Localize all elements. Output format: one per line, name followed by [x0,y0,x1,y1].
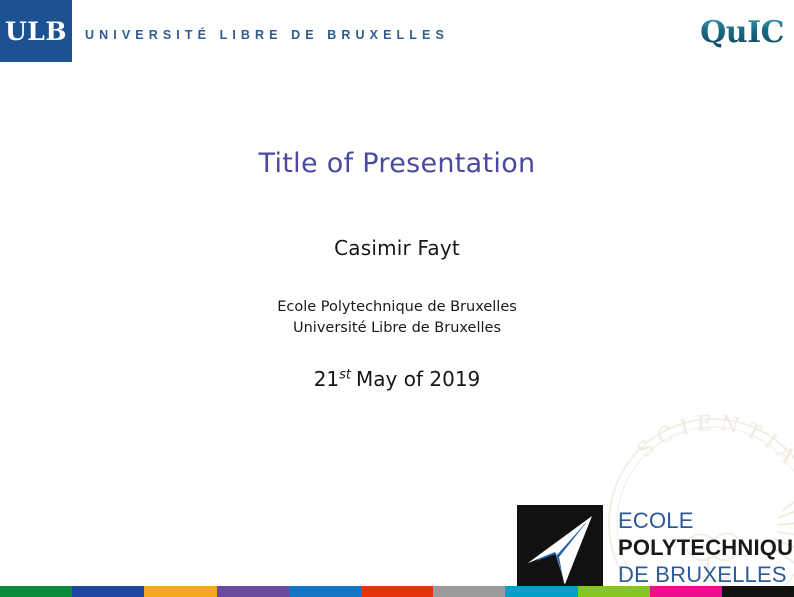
ulb-wordmark-text: UNIVERSITÉ LIBRE DE BRUXELLES [85,28,449,42]
institute-area: Ecole Polytechnique de Bruxelles Univers… [0,297,794,339]
color-strip-segment-blue [289,586,361,597]
color-strip-segment-gray [433,586,505,597]
color-strip-segment-magenta [650,586,722,597]
svg-text:SCIENTIA VINCERE: SCIENTIA VINCERE [588,398,794,519]
slide-header: ULB UNIVERSITÉ LIBRE DE BRUXELLES QuIC [0,0,794,64]
author-name: Casimir Fayt [334,236,460,260]
ulb-logo-letters: ULB [5,19,67,44]
color-strip-segment-light-green [578,586,650,597]
institute-line-2: Université Libre de Bruxelles [0,318,794,339]
date-ordinal-suffix: st [339,367,351,382]
page-title: Title of Presentation [0,148,794,179]
date-rest: May of 2019 [356,367,480,391]
presentation-date: 21stMay of 2019 [314,367,481,391]
quic-logo-text: QuIC [696,12,788,54]
epb-line-ecole: ECOLE [618,507,794,534]
quic-logo: QuIC [696,12,788,54]
institute-line-1: Ecole Polytechnique de Bruxelles [0,297,794,318]
title-area: Title of Presentation [0,148,794,179]
ulb-logo-mark: ULB [0,0,72,62]
color-strip-segment-dark-blue [72,586,144,597]
color-strip-segment-orange [144,586,216,597]
bottom-color-strip [0,586,794,597]
color-strip-segment-red [361,586,433,597]
color-strip-segment-black [722,586,794,597]
presentation-title-slide: ULB UNIVERSITÉ LIBRE DE BRUXELLES QuIC S… [0,0,794,597]
epb-line-polytechnique: POLYTECHNIQUE [618,534,794,561]
color-strip-segment-purple [217,586,289,597]
ecole-polytechnique-logo: ECOLE POLYTECHNIQUE DE BRUXELLES [517,505,794,591]
color-strip-segment-green [0,586,72,597]
epb-line-de-bruxelles: DE BRUXELLES [618,561,794,588]
author-area: Casimir Fayt [0,236,794,260]
date-area: 21stMay of 2019 [0,367,794,391]
epb-logo-text: ECOLE POLYTECHNIQUE DE BRUXELLES [618,507,794,588]
color-strip-segment-cyan [505,586,577,597]
epb-arrow-mark-icon [517,505,603,591]
date-day: 21 [314,367,339,391]
